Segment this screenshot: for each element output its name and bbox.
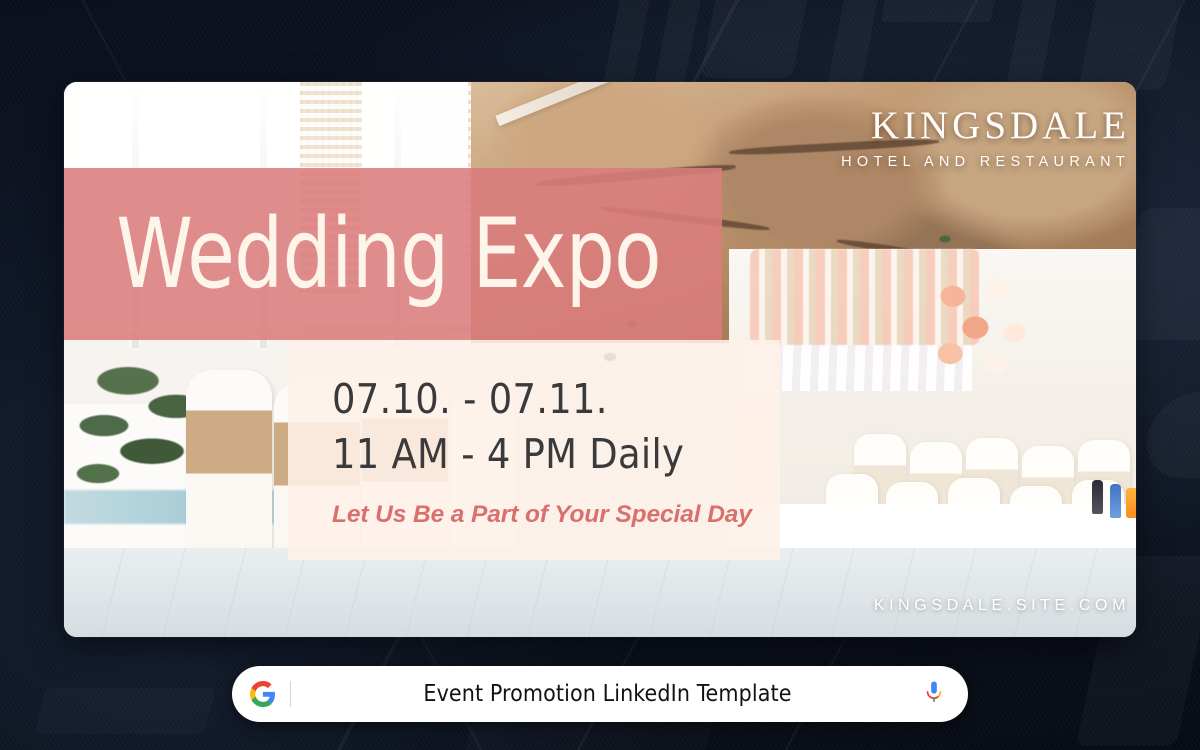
- google-g-logo: [250, 681, 276, 707]
- event-hours: 11 AM - 4 PM Daily: [332, 427, 780, 482]
- microphone-icon[interactable]: [924, 680, 944, 708]
- banquet-chair: [186, 370, 272, 555]
- tiled-floor: [64, 548, 1136, 637]
- flower-bouquet: [911, 260, 1051, 390]
- brand-name: KINGSDALE: [841, 106, 1130, 145]
- poster-card[interactable]: KINGSDALE HOTEL AND RESTAURANT Wedding E…: [64, 82, 1136, 637]
- brand-lockup: KINGSDALE HOTEL AND RESTAURANT: [841, 106, 1130, 170]
- headline-band: Wedding Expo: [64, 168, 722, 340]
- event-dates: 07.10. - 07.11.: [332, 372, 780, 427]
- brand-tagline: HOTEL AND RESTAURANT: [841, 154, 1130, 170]
- poster-headline: Wedding Expo: [64, 206, 661, 302]
- google-search-bar[interactable]: Event Promotion LinkedIn Template: [232, 666, 968, 722]
- event-info-panel: 07.10. - 07.11. 11 AM - 4 PM Daily Let U…: [288, 340, 780, 560]
- search-input[interactable]: Event Promotion LinkedIn Template: [291, 681, 924, 707]
- event-tagline: Let Us Be a Part of Your Special Day: [332, 501, 780, 529]
- page-backdrop: KINGSDALE HOTEL AND RESTAURANT Wedding E…: [0, 0, 1200, 750]
- website-url: KINGSDALE.SITE.COM: [874, 597, 1130, 615]
